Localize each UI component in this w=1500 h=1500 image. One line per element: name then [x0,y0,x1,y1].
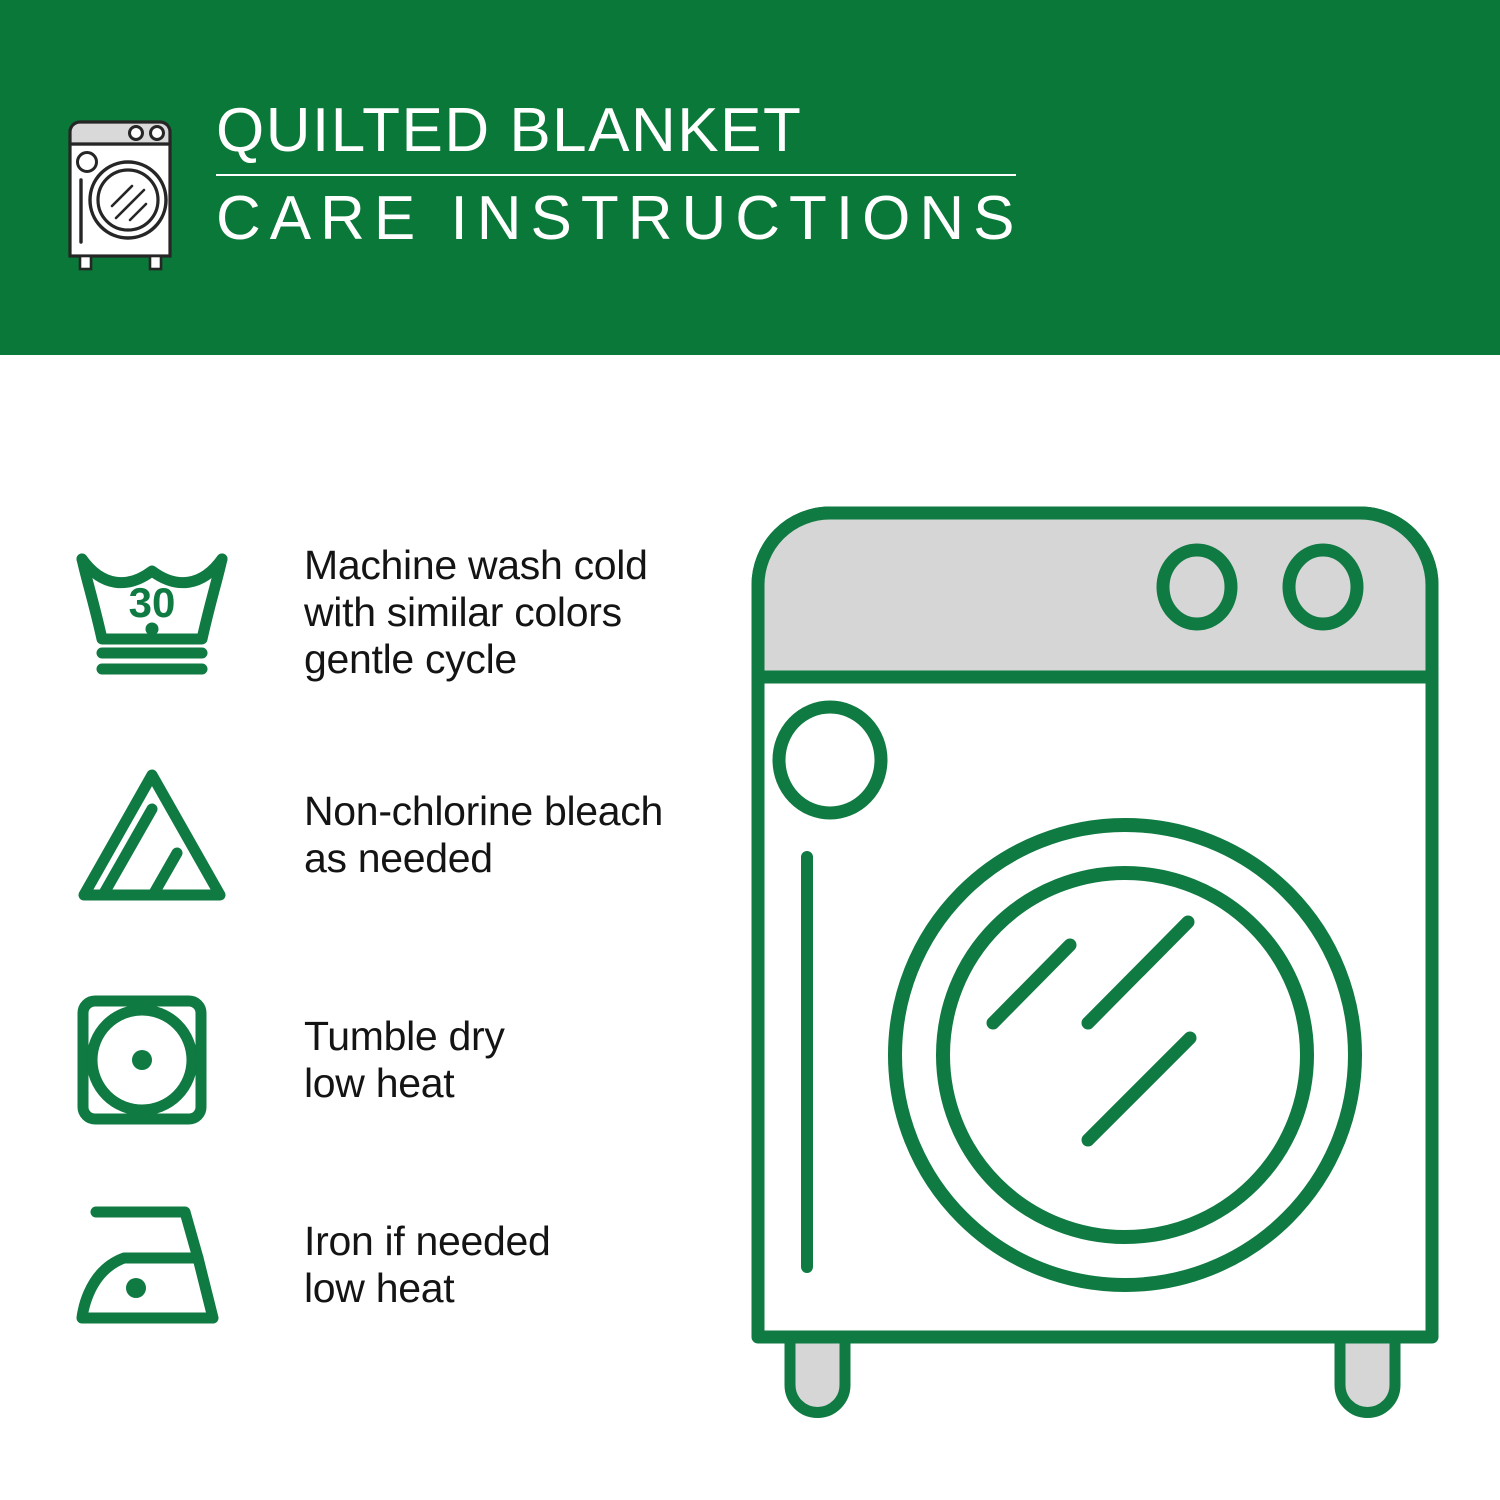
header-band: QUILTED BLANKET CARE INSTRUCTIONS [0,0,1500,355]
care-item-text: Iron if needed low heat [304,1218,551,1312]
care-symbol-slot [72,1198,242,1333]
page-title: QUILTED BLANKET [216,98,1023,164]
care-symbol-slot [72,990,242,1130]
wash-temperature-label: 30 [129,579,176,626]
care-text-line: as needed [304,835,663,882]
care-text-line: with similar colors [304,589,648,636]
control-knob-left [1163,550,1231,624]
bleach-triangle-icon [72,763,232,908]
care-item-text: Machine wash cold with similar colors ge… [304,542,648,683]
care-item-iron: Iron if needed low heat [72,1170,712,1360]
care-text-line: Machine wash cold [304,542,648,589]
page-subtitle: CARE INSTRUCTIONS [216,186,1023,252]
detergent-dispenser-icon [779,707,881,813]
header-content: QUILTED BLANKET CARE INSTRUCTIONS [58,98,1023,275]
washing-machine-illustration [740,495,1450,1420]
care-symbol-slot: 30 [72,545,242,680]
care-item-text: Tumble dry low heat [304,1013,505,1107]
care-text-line: low heat [304,1060,505,1107]
tumble-dry-icon [72,990,217,1130]
drum-inner-ring [943,873,1307,1237]
care-text-line: Non-chlorine bleach [304,788,663,835]
wash-tub-30-icon: 30 [72,545,232,680]
control-knob-right [1289,550,1357,624]
care-item-machine-wash: 30 Machine wash cold with similar colors… [72,505,712,720]
care-item-text: Non-chlorine bleach as needed [304,788,663,882]
care-text-line: Iron if needed [304,1218,551,1265]
care-text-line: low heat [304,1265,551,1312]
care-text-line: Tumble dry [304,1013,505,1060]
header-divider [216,174,1016,176]
iron-icon [72,1198,237,1333]
care-item-bleach: Non-chlorine bleach as needed [72,720,712,950]
care-text-line: gentle cycle [304,636,648,683]
care-item-tumble-dry: Tumble dry low heat [72,950,712,1170]
washing-machine-icon [58,110,188,275]
care-instruction-list: 30 Machine wash cold with similar colors… [72,505,712,1360]
care-symbol-slot [72,763,242,908]
header-text-block: QUILTED BLANKET CARE INSTRUCTIONS [216,98,1023,252]
